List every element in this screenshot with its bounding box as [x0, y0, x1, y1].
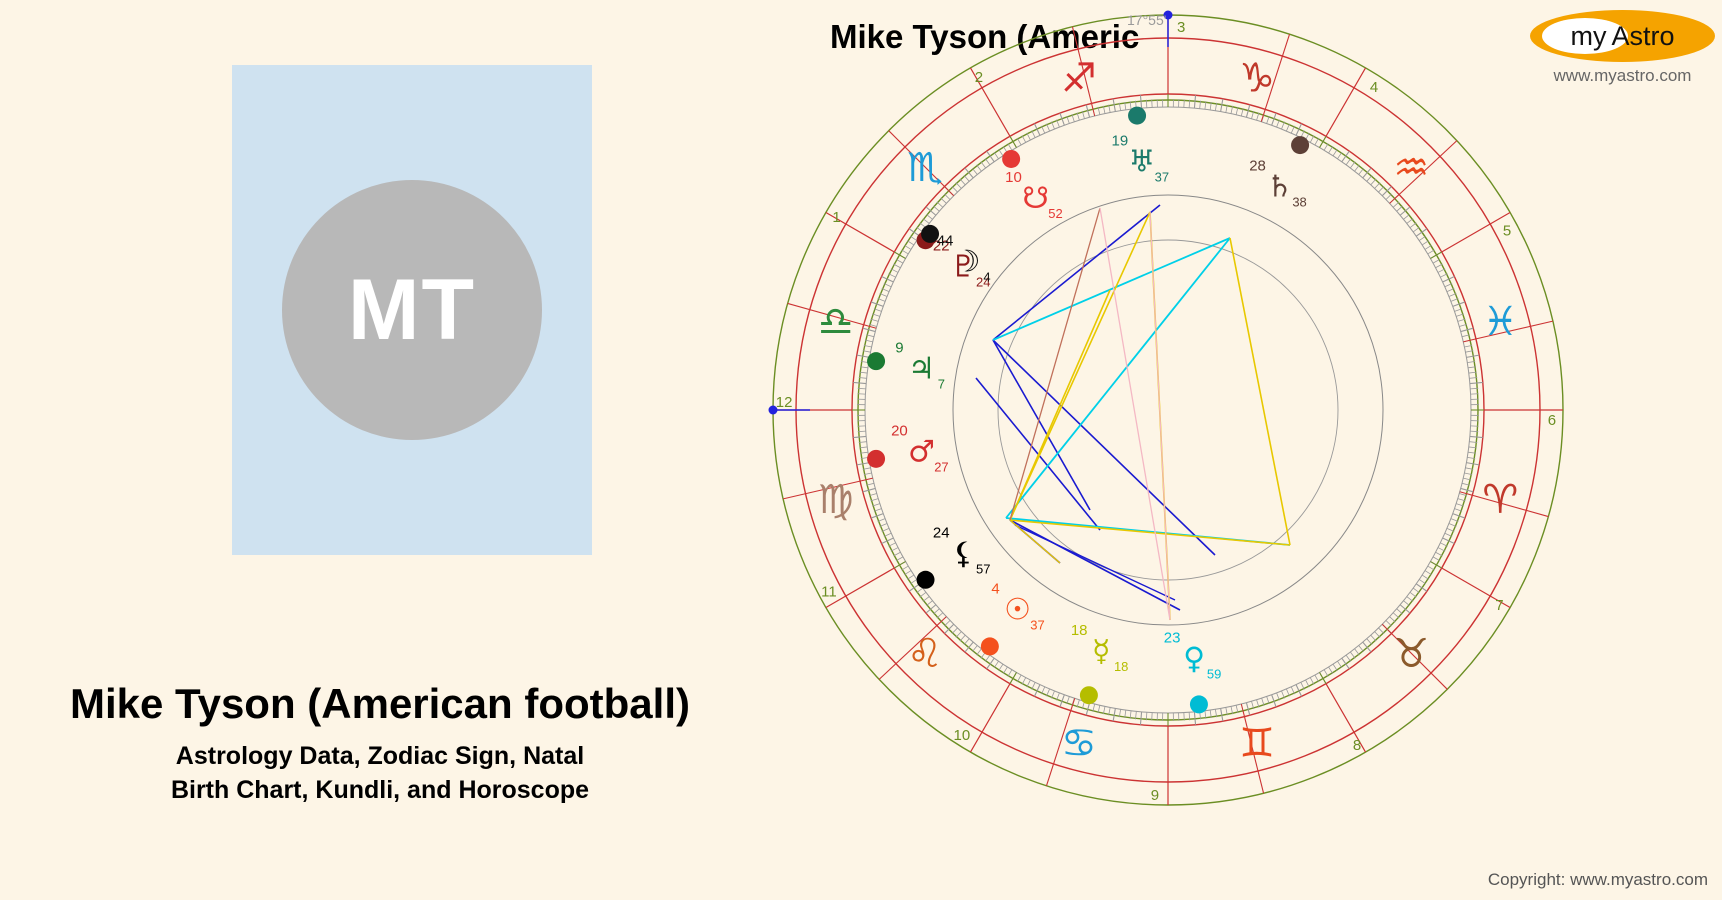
planet-degree-sun: 4 [991, 581, 999, 598]
planet-mercury[interactable]: ☿1818 [1071, 622, 1129, 704]
aspect-lines [976, 205, 1290, 620]
planet-glyph-lilith: ⚸ [952, 536, 974, 571]
house-cusp-lines [783, 27, 1553, 794]
house-number-4: 4 [1370, 79, 1378, 96]
planet-minute-saturn: 38 [1292, 194, 1306, 209]
sign-glyph-scorpio[interactable]: ♏ [907, 145, 943, 191]
house-number-12: 12 [776, 394, 793, 411]
sign-glyph-gemini[interactable]: ♊ [1239, 720, 1275, 766]
planet-moon[interactable]: ☽444 [921, 225, 991, 284]
house-number-8: 8 [1353, 737, 1361, 754]
sign-glyph-libra[interactable]: ♎ [818, 299, 854, 345]
planet-minute-mars: 27 [934, 459, 948, 474]
aspect-circle [953, 195, 1383, 625]
planet-south-node[interactable]: ☋1052 [1002, 150, 1063, 221]
planet-degree-mars: 20 [891, 422, 908, 439]
planet-degree-moon: 44 [937, 232, 954, 249]
house-numbers: 123456789101112 [776, 19, 1556, 804]
mc-degree: 17°55' [1127, 12, 1166, 28]
natal-chart-wheel[interactable]: MC 17°55' Asc 15°39' ♈♉♊♋♌♍♎♏♐♑♒♓ 123456… [760, 0, 1722, 900]
planet-minute-moon: 4 [983, 269, 990, 284]
sign-glyph-cancer[interactable]: ♋ [1061, 720, 1097, 766]
planet-degree-lilith: 24 [933, 524, 950, 541]
planet-minute-venus: 59 [1207, 667, 1221, 682]
degree-scale-ring [865, 107, 1471, 713]
sign-glyph-taurus[interactable]: ♉ [1393, 631, 1429, 677]
planet-glyph-mars: ♂ [908, 434, 935, 469]
planet-degree-saturn: 28 [1249, 157, 1266, 174]
avatar-card: MT [232, 65, 592, 555]
planet-glyph-sun: ☉ [1004, 593, 1031, 628]
planet-degree-jupiter: 9 [895, 340, 903, 357]
avatar-initials: MT [348, 261, 476, 360]
planet-mars[interactable]: ♂2027 [867, 422, 949, 474]
page-subtitle: Astrology Data, Zodiac Sign, Natal Birth… [0, 740, 760, 808]
house-number-10: 10 [954, 727, 971, 744]
planet-glyph-jupiter: ♃ [908, 352, 935, 387]
planet-minute-lilith: 57 [976, 561, 990, 576]
house-number-7: 7 [1495, 597, 1503, 614]
subtitle-line-2: Birth Chart, Kundli, and Horoscope [0, 774, 760, 808]
sign-glyph-aquarius[interactable]: ♒ [1393, 145, 1429, 191]
planet-minute-uranus: 37 [1155, 169, 1169, 184]
avatar: MT [282, 180, 542, 440]
planet-degree-south-node: 10 [1005, 169, 1022, 186]
planet-minute-south-node: 52 [1048, 206, 1062, 221]
sign-glyph-aries[interactable]: ♈ [1482, 477, 1518, 523]
house-number-2: 2 [975, 69, 983, 86]
planet-glyph-mercury: ☿ [1092, 634, 1110, 669]
planet-venus[interactable]: ♀2359 [1164, 630, 1222, 714]
house-number-1: 1 [832, 209, 840, 226]
planet-minute-jupiter: 7 [938, 377, 945, 392]
planet-glyph-venus: ♀ [1183, 642, 1205, 677]
zodiac-sign-glyphs[interactable]: ♈♉♊♋♌♍♎♏♐♑♒♓ [818, 56, 1518, 767]
planet-minute-sun: 37 [1030, 618, 1044, 633]
subtitle-line-1: Astrology Data, Zodiac Sign, Natal [0, 740, 760, 774]
house-number-9: 9 [1151, 787, 1159, 804]
planet-uranus[interactable]: ♅1937 [1112, 107, 1170, 185]
planet-sun[interactable]: ☉437 [981, 581, 1045, 656]
profile-panel: MT Mike Tyson (American football) Astrol… [0, 0, 760, 900]
sign-glyph-capricorn[interactable]: ♑ [1239, 56, 1275, 102]
planet-saturn[interactable]: ♄2838 [1249, 136, 1309, 209]
house-number-6: 6 [1548, 412, 1556, 429]
page-title: Mike Tyson (American football) [0, 680, 760, 728]
planet-jupiter[interactable]: ♃97 [867, 340, 945, 392]
sign-glyph-leo[interactable]: ♌ [907, 631, 943, 677]
planet-lilith[interactable]: ⚸2457 [917, 524, 991, 588]
planet-degree-uranus: 19 [1112, 132, 1129, 149]
planet-glyph-saturn: ♄ [1266, 169, 1293, 204]
house-number-11: 11 [821, 583, 837, 600]
planet-degree-venus: 23 [1164, 630, 1181, 647]
sign-glyph-sagittarius[interactable]: ♐ [1061, 56, 1097, 102]
sign-glyph-virgo[interactable]: ♍ [818, 477, 854, 523]
house-number-5: 5 [1503, 223, 1511, 240]
sign-glyph-pisces[interactable]: ♓ [1482, 299, 1518, 345]
planet-glyph-south-node: ☋ [1022, 181, 1049, 216]
planet-degree-mercury: 18 [1071, 622, 1088, 639]
house-number-3: 3 [1177, 19, 1185, 36]
planet-minute-mercury: 18 [1114, 659, 1128, 674]
planet-glyph-uranus: ♅ [1128, 144, 1155, 179]
planet-glyph-moon: ☽ [954, 244, 981, 279]
